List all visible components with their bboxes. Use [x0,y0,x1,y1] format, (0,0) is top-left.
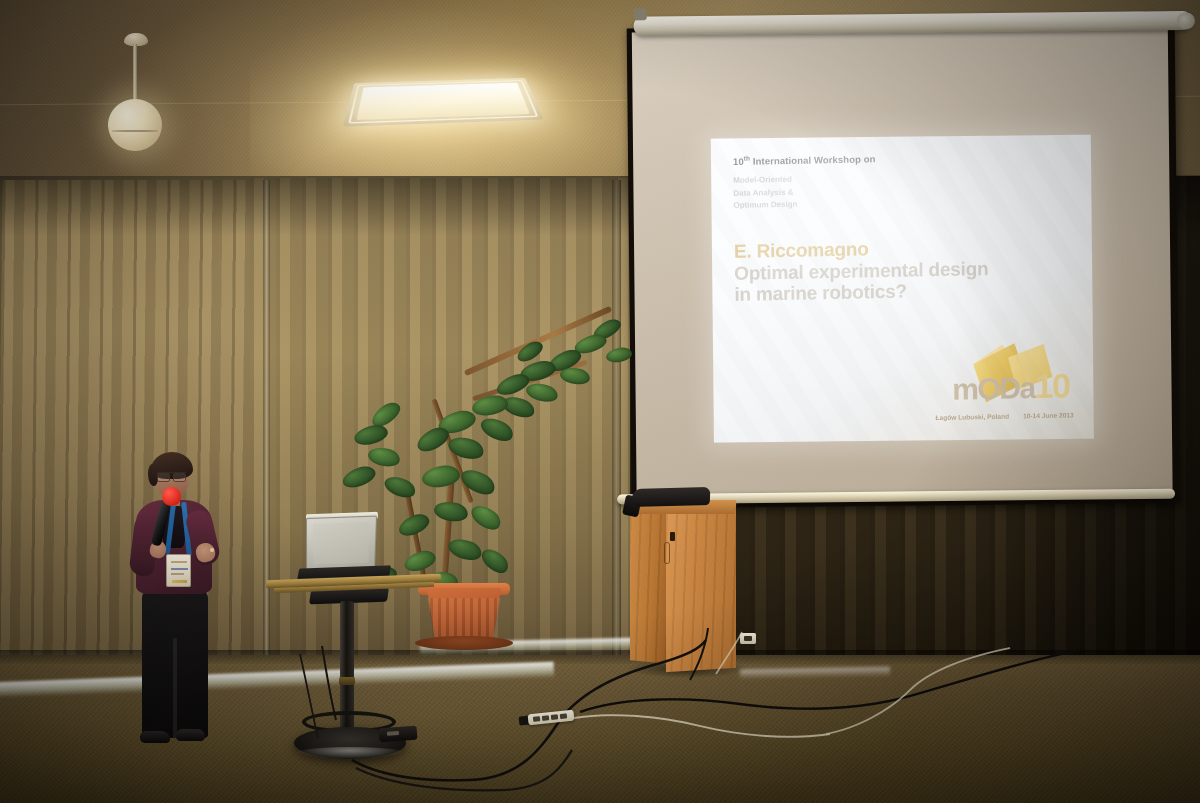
floor-cables [0,600,1200,803]
laptop-screen-lid [306,516,377,572]
ceiling-panel-light [350,64,535,136]
slide-subheading: Model-Oriented Data Analysis & Optimum D… [733,169,1073,213]
power-socket[interactable] [551,714,558,720]
plant-leaf [524,380,559,405]
plant-leaf [478,544,512,577]
name-badge [166,554,191,587]
cable-stand-drop [322,646,336,720]
logo-location: Łagów Lubuski, Poland [935,414,1009,422]
plant-leaf [478,413,517,446]
power-socket[interactable] [542,715,549,721]
plant-leaf [467,500,504,534]
projected-slide: 10th International Workshop on Model-Ori… [711,135,1094,443]
badge-line-1 [171,561,187,563]
plant-leaf [446,535,484,564]
plant-leaf [494,371,532,399]
plant-leaf [366,444,401,469]
roller-cap-right [1177,12,1195,29]
projection-screen: 10th International Workshop on Model-Ori… [616,0,1200,543]
pendant-globe [108,99,162,151]
panel-light-diffuser [357,83,530,120]
plant-leaf [457,464,498,499]
presentation-room-scene: 10th International Workshop on Model-Ori… [0,0,1200,803]
cable-stand-drop-2 [300,654,318,738]
logo-number-text: 10 [1034,367,1069,406]
slide-content: 10th International Workshop on Model-Ori… [711,135,1094,443]
pendant-lamp [106,33,164,153]
cable-podium-drop [690,628,708,680]
plant-leaf [353,423,390,448]
cable-white-2 [826,648,1010,734]
plant-leaf [605,346,633,363]
badge-logo-strip [172,580,187,583]
slide-title-block: E. Riccomagno Optimal experimental desig… [734,236,1075,307]
logo-caption: Łagów Lubuski, Poland10-14 June 2013 [935,412,1073,422]
curtain-seam-left [263,180,270,672]
cable-to-wall [580,650,1080,712]
cable-white [574,715,830,737]
pendant-rod [133,44,137,106]
plant-leaf [340,463,378,491]
workshop-number: 10 [733,157,744,168]
plant-leaf [432,499,469,525]
presenter-glasses [157,472,186,479]
power-socket[interactable] [533,716,540,722]
podium-door-handle[interactable] [664,542,670,564]
workshop-heading-rest: International Workshop on [750,154,876,167]
plant-leaf [421,464,461,489]
badge-line-3 [171,573,184,575]
logo-moda-text: mODa [952,372,1035,407]
power-adapter-brick [379,726,418,743]
cable-secondary [356,750,572,790]
power-socket[interactable] [560,713,567,719]
cable-main [352,640,706,780]
plant-leaf [382,472,419,501]
roller-cap-left [634,8,647,20]
presenter-ring [210,548,214,552]
slide-workshop-heading: 10th International Workshop on [733,149,1073,168]
plant-leaf [559,365,592,387]
podium-latch[interactable] [670,532,675,541]
badge-line-2 [171,568,188,570]
logo-wordmark: mODa10 [952,369,1070,405]
moda-logo: mODa10 Łagów Lubuski, Poland10-14 June 2… [889,330,1080,429]
microphone-windscreen[interactable] [162,487,181,506]
logo-dates: 10-14 June 2013 [1023,412,1074,420]
black-bag [632,487,711,507]
cable-podium-white [716,632,742,674]
